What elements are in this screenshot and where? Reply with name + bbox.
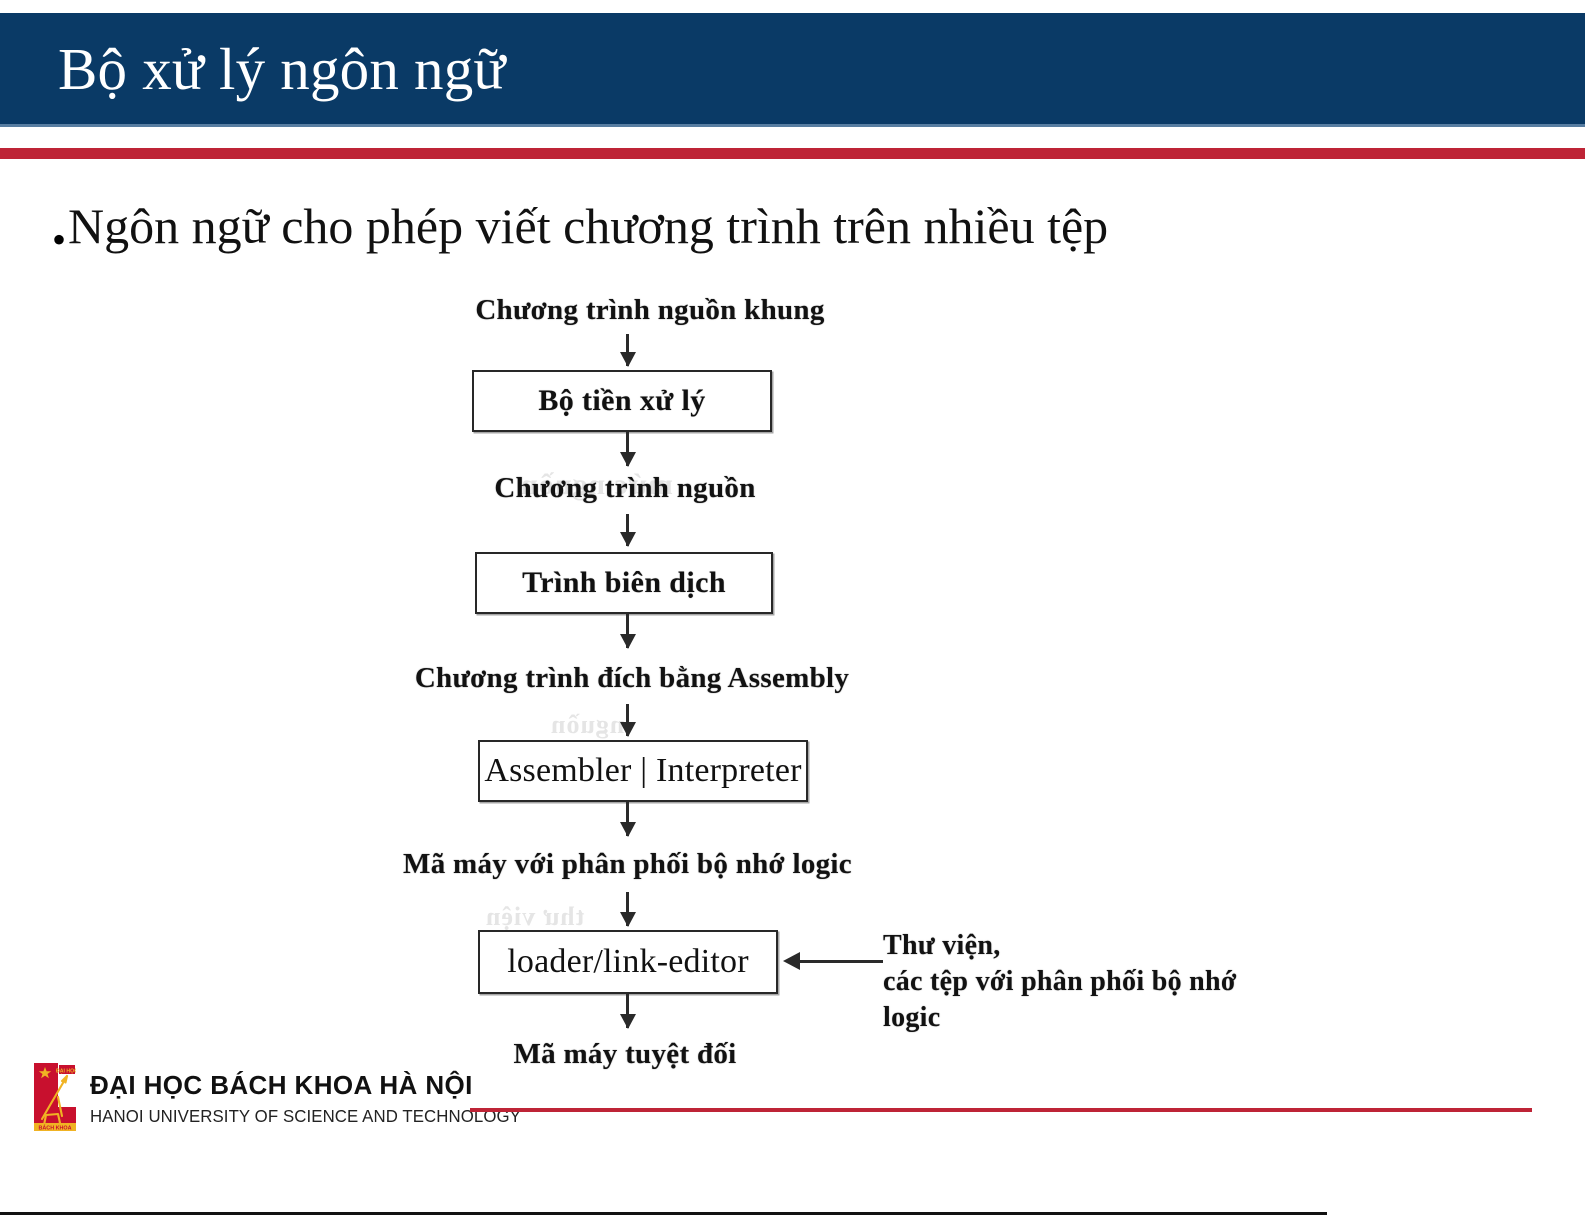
figure-label-source-program: Chương trình nguồn [380,472,870,505]
svg-text:ĐẠI HỌC: ĐẠI HỌC [56,1068,76,1074]
flow-arrow [626,432,629,466]
svg-text:BÁCH KHOA: BÁCH KHOA [39,1124,72,1131]
header-accent-rule [0,148,1585,159]
figure-label-source-skeleton: Chương trình nguồn khung [370,294,930,327]
flow-arrow [626,802,629,836]
flowchart-box-preprocessor: Bộ tiền xử lý [472,370,772,432]
flowchart-box-assembler-interpreter: Assembler | Interpreter [478,740,808,802]
slide-title-bar: Bộ xử lý ngôn ngữ [0,13,1585,127]
library-flow-arrowhead [783,952,800,970]
figure-label-assembly-target: Chương trình đích bằng Assembly [362,662,902,695]
flow-arrow [626,514,629,546]
bullet-item-label: Ngôn ngữ cho phép viết chương trình trên… [68,198,1108,254]
bullet-list-item: • Ngôn ngữ cho phép viết chương trình tr… [52,198,1532,260]
flow-arrow [626,334,629,366]
flow-arrow [626,892,629,926]
flowchart-box-label: Trình biên dịch [522,566,726,600]
flow-arrow [626,704,629,736]
library-note-line: logic [883,1000,1237,1036]
flowchart-box-label: loader/link-editor [507,943,749,981]
figure-annotation-library: Thư viện, các tệp với phân phối bộ nhớ l… [883,928,1237,1035]
scan-ghost-mark: thư viện [485,902,584,932]
flowchart-box-compiler: Trình biên dịch [475,552,773,614]
scan-ghost-mark: nguồn [550,710,624,740]
bullet-point-icon: • [52,220,66,260]
flow-arrow [626,994,629,1028]
university-name-vietnamese: ĐẠI HỌC BÁCH KHOA HÀ NỘI [90,1071,539,1101]
title-bar-highlight [0,124,1585,127]
library-note-line: Thư viện, [883,928,1237,964]
language-processor-flowchart: Chương trình mức nguồn nguồn thư viện Ch… [370,280,1300,1080]
library-flow-arrow [798,960,883,963]
footer-branding: ĐẠI HỌC BÁCH KHOA ĐẠI HỌC BÁCH KHOA HÀ N… [34,1059,539,1139]
figure-label-relocatable-code: Mã máy với phân phối bộ nhớ logic [355,848,900,881]
university-name-english: HANOI UNIVERSITY OF SCIENCE AND TECHNOLO… [90,1106,521,1127]
library-note-line: các tệp với phân phối bộ nhớ [883,964,1237,1000]
footer-university-names: ĐẠI HỌC BÁCH KHOA HÀ NỘI HANOI UNIVERSIT… [90,1071,539,1127]
flowchart-box-label: Assembler | Interpreter [484,752,801,790]
slide-bottom-border [0,1212,1327,1215]
flow-arrow [626,614,629,648]
flowchart-box-loader-link-editor: loader/link-editor [478,930,778,994]
footer-accent-rule [470,1108,1532,1112]
page-title: Bộ xử lý ngôn ngữ [58,39,506,101]
hust-logo-icon: ĐẠI HỌC BÁCH KHOA [34,1059,76,1139]
flowchart-box-label: Bộ tiền xử lý [538,384,705,418]
